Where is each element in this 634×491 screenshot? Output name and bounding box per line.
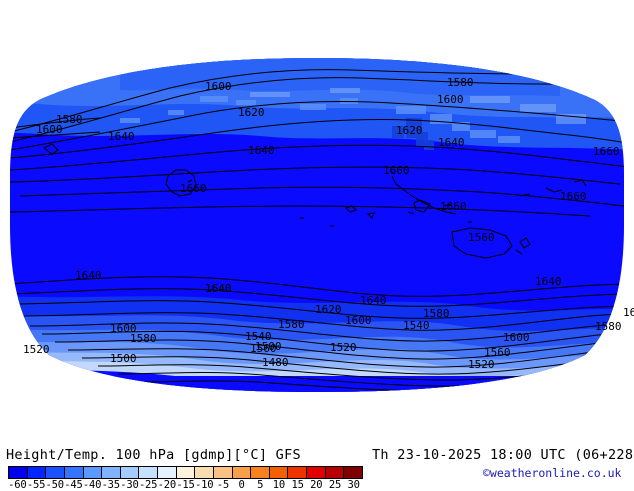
colorbar-swatch[interactable]: [195, 467, 214, 478]
colorbar-swatch[interactable]: [251, 467, 270, 478]
copyright-credit: ©weatheronline.co.uk: [483, 466, 621, 480]
contour-label: 1520: [23, 343, 50, 356]
contour-label: 1600: [345, 314, 372, 327]
contour-label: 1600: [503, 331, 530, 344]
colorbar-tick: 30: [348, 479, 360, 491]
colorbar-tick: 20: [310, 479, 322, 491]
colorbar-swatch[interactable]: [46, 467, 65, 478]
contour-label: 1620: [315, 303, 342, 316]
colorbar-tick: -45: [64, 479, 82, 491]
colorbar-swatch[interactable]: [288, 467, 307, 478]
map-canvas[interactable]: 1600158015801600162016001640162016401640…: [0, 0, 634, 430]
contour-label: 1560: [468, 231, 495, 244]
contour-label: 1580: [447, 76, 474, 89]
contour-label: 1640: [438, 136, 465, 149]
contour-label: 1600: [437, 93, 464, 106]
contour-label: 1500: [255, 340, 282, 353]
contour-label: 1620: [396, 124, 423, 137]
colorbar-swatches[interactable]: [8, 466, 363, 479]
colorbar-tick: 15: [291, 479, 303, 491]
contour-label: 1640: [75, 269, 102, 282]
contour-label: 1640: [360, 294, 387, 307]
contour-label: 1640: [535, 275, 562, 288]
contour-label: 1620: [623, 306, 634, 319]
colorbar-tick: -10: [195, 479, 213, 491]
colorbar-tick: -50: [46, 479, 64, 491]
contour-label: 1640: [108, 130, 135, 143]
colorbar-swatch[interactable]: [139, 467, 158, 478]
temperature-field: [0, 0, 634, 430]
colorbar-tick: 5: [257, 479, 263, 491]
contour-label: 1660: [560, 190, 587, 203]
colorbar-swatch[interactable]: [121, 467, 140, 478]
colorbar-tick: -5: [217, 479, 229, 491]
contour-label: 1620: [238, 106, 265, 119]
contour-label: 1540: [403, 319, 430, 332]
contour-label: 1520: [330, 341, 357, 354]
colorbar-tick: -40: [83, 479, 101, 491]
colorbar-tick: 0: [238, 479, 244, 491]
colorbar-tick: 10: [273, 479, 285, 491]
contour-label: 1640: [248, 144, 275, 157]
contour-label: 1520: [468, 358, 495, 371]
colorbar-swatch[interactable]: [344, 467, 362, 478]
contour-label: 1580: [130, 332, 157, 345]
colorbar-swatch[interactable]: [84, 467, 103, 478]
colorbar-swatch[interactable]: [214, 467, 233, 478]
contour-label: 1660: [180, 182, 207, 195]
colorbar-tick: -35: [102, 479, 120, 491]
colorbar-tick-labels: -60-55-50-45-40-35-30-25-20-15-10-505101…: [8, 479, 363, 491]
footer-panel: Height/Temp. 100 hPa [gdmp][°C] GFS Th 2…: [0, 430, 634, 490]
colorbar-tick: -25: [139, 479, 157, 491]
colorbar-swatch[interactable]: [233, 467, 252, 478]
contour-label: 1480: [262, 356, 289, 369]
colorbar-tick: -55: [27, 479, 45, 491]
map-title: Height/Temp. 100 hPa [gdmp][°C] GFS: [6, 447, 301, 463]
contour-label: 1500: [110, 352, 137, 365]
colorbar-tick: -20: [158, 479, 176, 491]
contour-label: 1600: [36, 123, 63, 136]
colorbar-swatch[interactable]: [270, 467, 289, 478]
weather-map[interactable]: 1600158015801600162016001640162016401640…: [0, 0, 634, 430]
colorbar-tick: -60: [8, 479, 26, 491]
contour-label: 1580: [595, 320, 622, 333]
colorbar-swatch[interactable]: [102, 467, 121, 478]
colorbar-swatch[interactable]: [65, 467, 84, 478]
contour-label: 1660: [383, 164, 410, 177]
colorbar-tick: -30: [120, 479, 138, 491]
contour-label: 1640: [205, 282, 232, 295]
contour-label: 1660: [593, 145, 620, 158]
colorbar-tick: -15: [176, 479, 194, 491]
colorbar-swatch[interactable]: [177, 467, 196, 478]
contour-label: 1600: [205, 80, 232, 93]
colorbar-swatch[interactable]: [326, 467, 345, 478]
colorbar-tick: 25: [329, 479, 341, 491]
contour-label: 1580: [278, 318, 305, 331]
colorbar-swatch[interactable]: [28, 467, 47, 478]
contour-label: 1660: [440, 200, 467, 213]
valid-datetime: Th 23-10-2025 18:00 UTC (06+228): [372, 447, 634, 463]
colorbar-swatch[interactable]: [158, 467, 177, 478]
temperature-colorbar[interactable]: -60-55-50-45-40-35-30-25-20-15-10-505101…: [8, 466, 363, 490]
colorbar-swatch[interactable]: [9, 467, 28, 478]
colorbar-swatch[interactable]: [307, 467, 326, 478]
